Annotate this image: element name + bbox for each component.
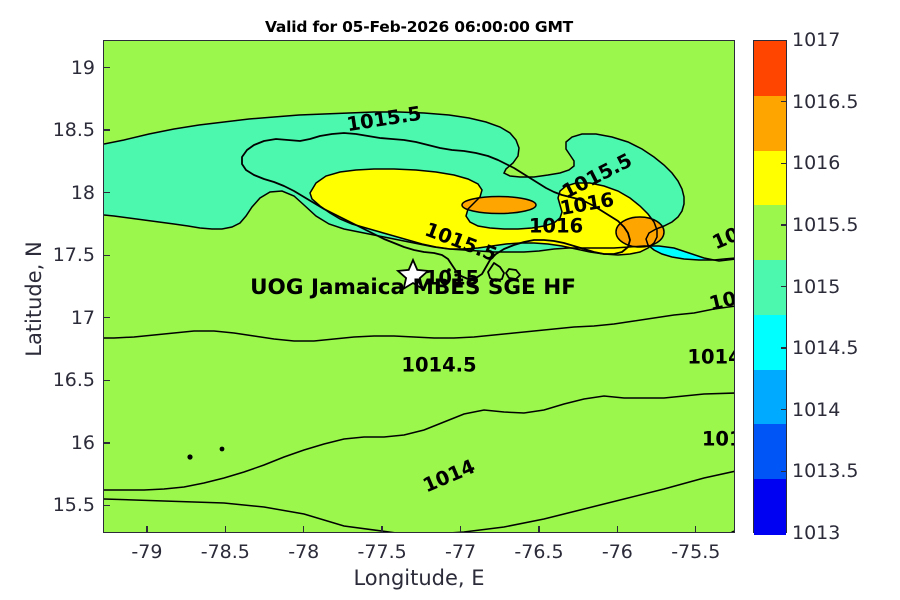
colorbar-tick-label: 1015.5 <box>792 214 858 236</box>
x-tick-label: -77 <box>445 541 476 563</box>
x-axis-title: Longitude, E <box>103 566 735 590</box>
colorbar-tick-mark <box>781 224 787 225</box>
y-tick-mark <box>103 442 110 443</box>
y-tick-mark <box>103 67 110 68</box>
colorbar-band <box>754 41 786 96</box>
colorbar-tick-label: 1013 <box>792 522 840 544</box>
y-tick-label: 15.5 <box>17 494 95 516</box>
x-tick-mark <box>225 526 226 533</box>
cay-west <box>187 454 192 459</box>
y-tick-mark <box>103 255 110 256</box>
y-axis-title: Latitude, N <box>22 169 46 429</box>
colorbar-band <box>754 260 786 315</box>
contour-label: 1014.5 <box>687 346 735 369</box>
colorbar-tick-mark <box>781 347 787 348</box>
x-tick-mark <box>460 526 461 533</box>
colorbar-tick-mark <box>781 409 787 410</box>
x-tick-mark <box>381 526 382 533</box>
x-tick-label: -78 <box>288 541 319 563</box>
colorbar-tick-label: 1015 <box>792 276 840 298</box>
colorbar-tick-label: 1014.5 <box>792 337 858 359</box>
x-tick-label: -79 <box>131 541 162 563</box>
colorbar-tick-label: 1014 <box>792 399 840 421</box>
station-label: UOG Jamaica MBES SGE HF <box>250 275 576 300</box>
colorbar-tick-label: 1013.5 <box>792 460 858 482</box>
colorbar-tick-mark <box>781 163 787 164</box>
y-tick-label: 19 <box>17 57 95 79</box>
x-tick-label: -76.5 <box>514 541 563 563</box>
colorbar-tick-label: 1016.5 <box>792 91 858 113</box>
figure-canvas: Valid for 05-Feb-2026 06:00:00 GMT <box>0 0 900 600</box>
colorbar-band <box>754 205 786 260</box>
colorbar-band <box>754 96 786 151</box>
contour-label: 1015 <box>425 267 479 290</box>
colorbar-band <box>754 479 786 534</box>
colorbar-band <box>754 370 786 425</box>
x-tick-mark <box>303 526 304 533</box>
y-tick-mark <box>103 380 110 381</box>
x-tick-label: -76 <box>602 541 633 563</box>
colorbar-tick-label: 1016 <box>792 152 840 174</box>
colorbar-tick-mark <box>781 471 787 472</box>
y-tick-mark <box>103 129 110 130</box>
x-tick-label: -77.5 <box>358 541 407 563</box>
colorbar-tick-label: 1017 <box>792 29 840 51</box>
x-tick-mark <box>538 526 539 533</box>
contour-label: 1016 <box>529 215 583 238</box>
contour-label: 1014 <box>702 428 735 451</box>
colorbar-tick-mark <box>781 101 787 102</box>
y-tick-label: 18.5 <box>17 119 95 141</box>
colorbar-tick-mark <box>781 286 787 287</box>
cay-east <box>220 447 225 452</box>
x-tick-mark <box>695 526 696 533</box>
y-tick-mark <box>103 192 110 193</box>
figure-title: Valid for 05-Feb-2026 06:00:00 GMT <box>103 18 735 36</box>
x-tick-label: -78.5 <box>201 541 250 563</box>
contour-map-axes[interactable]: UOG Jamaica MBES SGE HF 1015.51015.51016… <box>103 40 735 533</box>
x-tick-label: -75.5 <box>671 541 720 563</box>
contour-label: 1014.5 <box>401 354 476 377</box>
colorbar-band <box>754 315 786 370</box>
x-tick-mark <box>617 526 618 533</box>
y-tick-label: 16 <box>17 432 95 454</box>
y-tick-mark <box>103 317 110 318</box>
colorbar-band <box>754 151 786 206</box>
x-tick-mark <box>146 526 147 533</box>
y-tick-mark <box>103 505 110 506</box>
